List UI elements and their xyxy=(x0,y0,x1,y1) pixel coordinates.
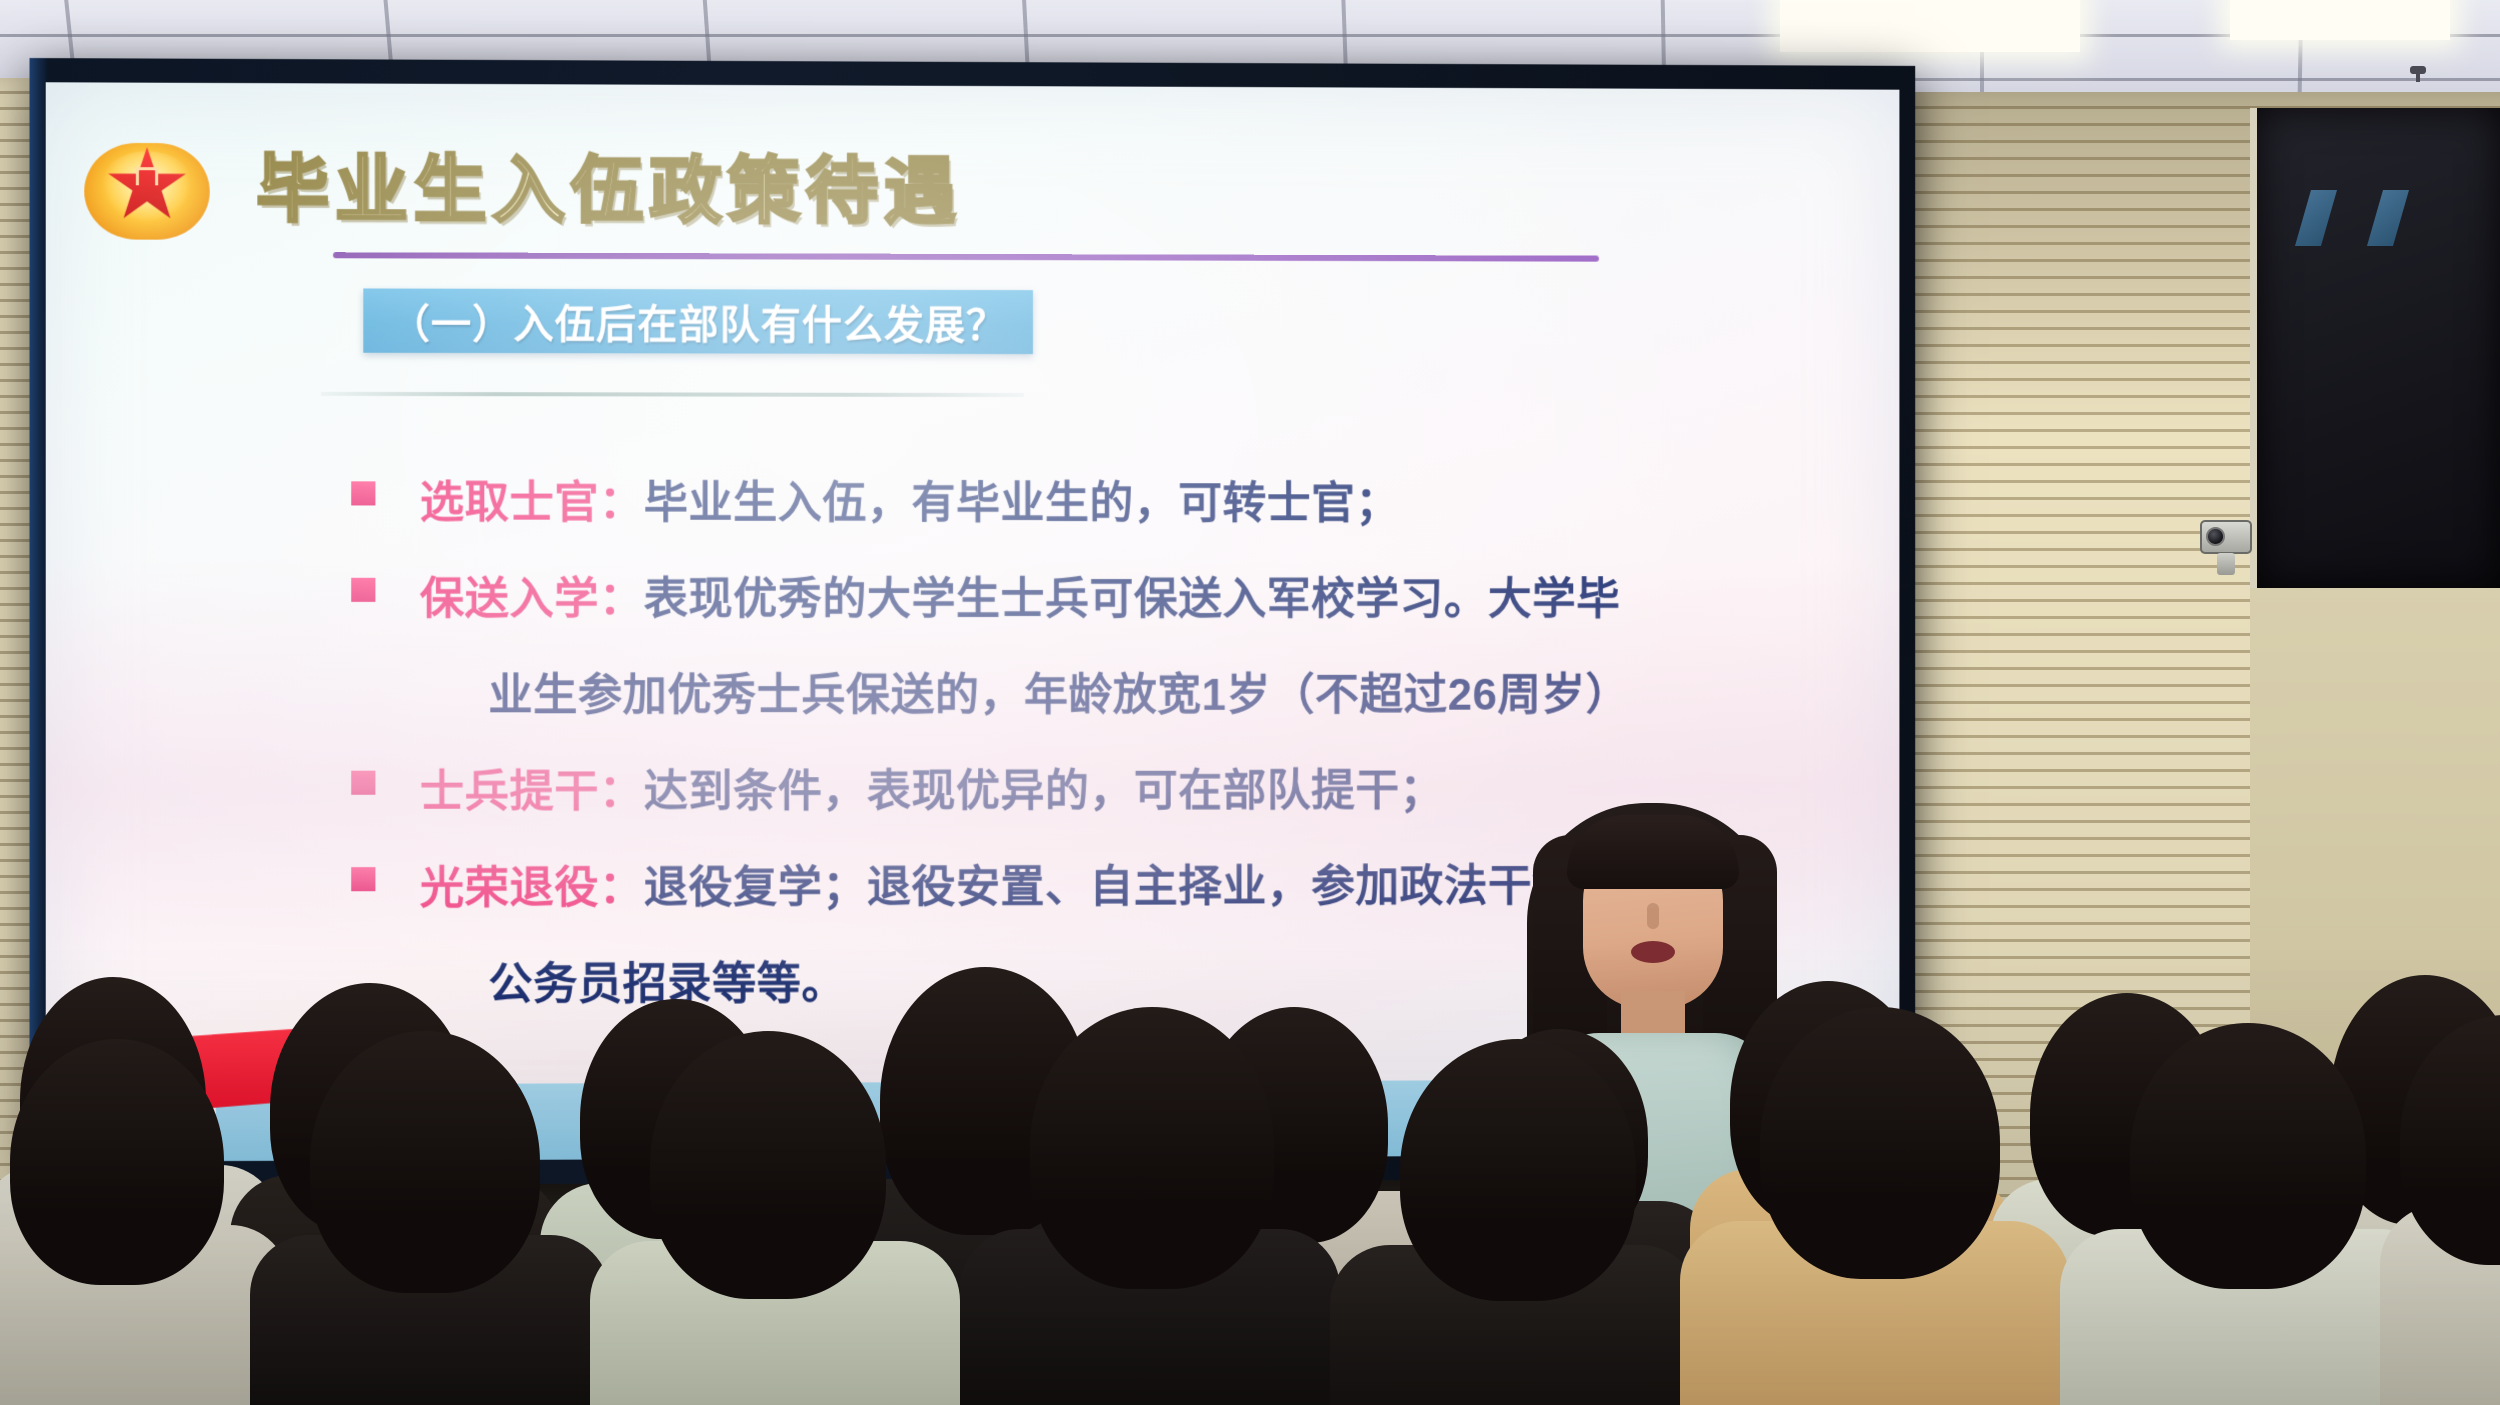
bullet-marker-icon xyxy=(351,771,375,795)
bullet-continuation: 业生参加优秀士兵保送的，年龄放宽1岁（不超过26周岁） xyxy=(488,671,1629,721)
bullet-marker-icon xyxy=(351,867,375,891)
lecture-hall-scene: 毕业生入伍政策待遇 （一）入伍后在部队有什么发展？ 选取士官：毕业生入伍，有毕业… xyxy=(0,0,2500,1405)
ceiling-light-panel xyxy=(2230,0,2450,40)
audience-head xyxy=(310,1031,540,1293)
title-divider xyxy=(333,252,1599,261)
ceiling-light-panel xyxy=(1780,0,2080,52)
pla-star-wreath-emblem xyxy=(80,125,214,244)
bullet-body: 达到条件，表现优异的，可在部队提干； xyxy=(644,766,1444,816)
list-item-continuation: 业生参加优秀士兵保送的，年龄放宽1岁（不超过26周岁） xyxy=(351,648,1868,745)
slide-subtitle-text: （一）入伍后在部队有什么发展？ xyxy=(390,292,1007,352)
audience-head xyxy=(1400,1039,1636,1301)
subtitle-divider xyxy=(321,392,1024,397)
list-item: 选取士官：毕业生入伍，有毕业生的，可转士官； xyxy=(351,455,1868,552)
bullet-label: 光荣退役： xyxy=(420,864,644,914)
bullet-marker-spacer xyxy=(351,674,375,698)
list-item: 保送入学：表现优秀的大学生士兵可保送入军校学习。大学毕 xyxy=(351,552,1868,648)
slide-title: 毕业生入伍政策待遇 xyxy=(256,129,962,237)
seated-audience xyxy=(0,945,2500,1405)
surveillance-camera xyxy=(2200,520,2260,564)
sprinkler-head xyxy=(2410,66,2426,74)
bullet-body: 毕业生入伍，有毕业生的，可转士官； xyxy=(644,479,1400,529)
slide-subtitle-box: （一）入伍后在部队有什么发展？ xyxy=(363,288,1033,354)
audience-head xyxy=(10,1039,224,1285)
bullet-marker-icon xyxy=(351,578,375,602)
presenter-nose xyxy=(1647,903,1659,929)
audience-head xyxy=(650,1031,886,1299)
audience-head xyxy=(1030,1007,1274,1289)
bullet-label: 士兵提干： xyxy=(420,767,644,816)
audience-head xyxy=(2130,1023,2366,1289)
presenter-hair-front xyxy=(1567,815,1739,889)
bullet-label: 选取士官： xyxy=(420,478,644,527)
dark-window-opening xyxy=(2250,108,2500,588)
bullet-body: 表现优秀的大学生士兵可保送入军校学习。大学毕 xyxy=(644,575,1621,624)
bullet-label: 保送入学： xyxy=(420,575,644,624)
bullet-marker-icon xyxy=(351,481,375,505)
audience-head xyxy=(1760,1007,2000,1279)
